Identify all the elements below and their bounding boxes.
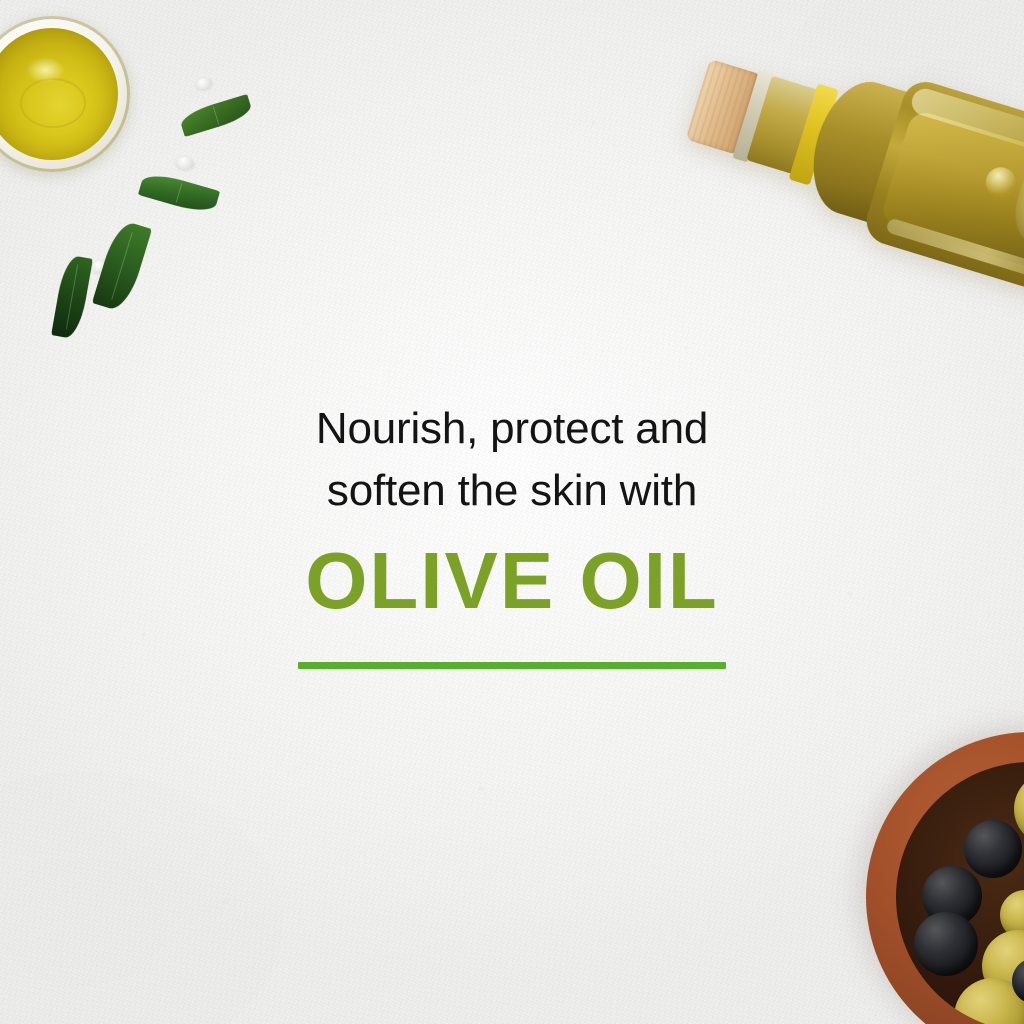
black-olive-icon: [964, 820, 1022, 878]
black-olive-icon: [914, 912, 978, 976]
olive-oil-bowl-icon: [0, 16, 130, 172]
olives-bowl-icon: [866, 732, 1024, 1024]
title-divider-rule: [298, 662, 726, 669]
oil-ripple-ring: [20, 78, 86, 128]
product-title: OLIVE OIL: [0, 538, 1024, 624]
headline-line-1: Nourish, protect and: [0, 398, 1024, 460]
olive-oil-banner: Nourish, protect and soften the skin wit…: [0, 0, 1024, 1024]
banner-text-block: Nourish, protect and soften the skin wit…: [0, 398, 1024, 669]
headline-line-2: soften the skin with: [0, 460, 1024, 522]
